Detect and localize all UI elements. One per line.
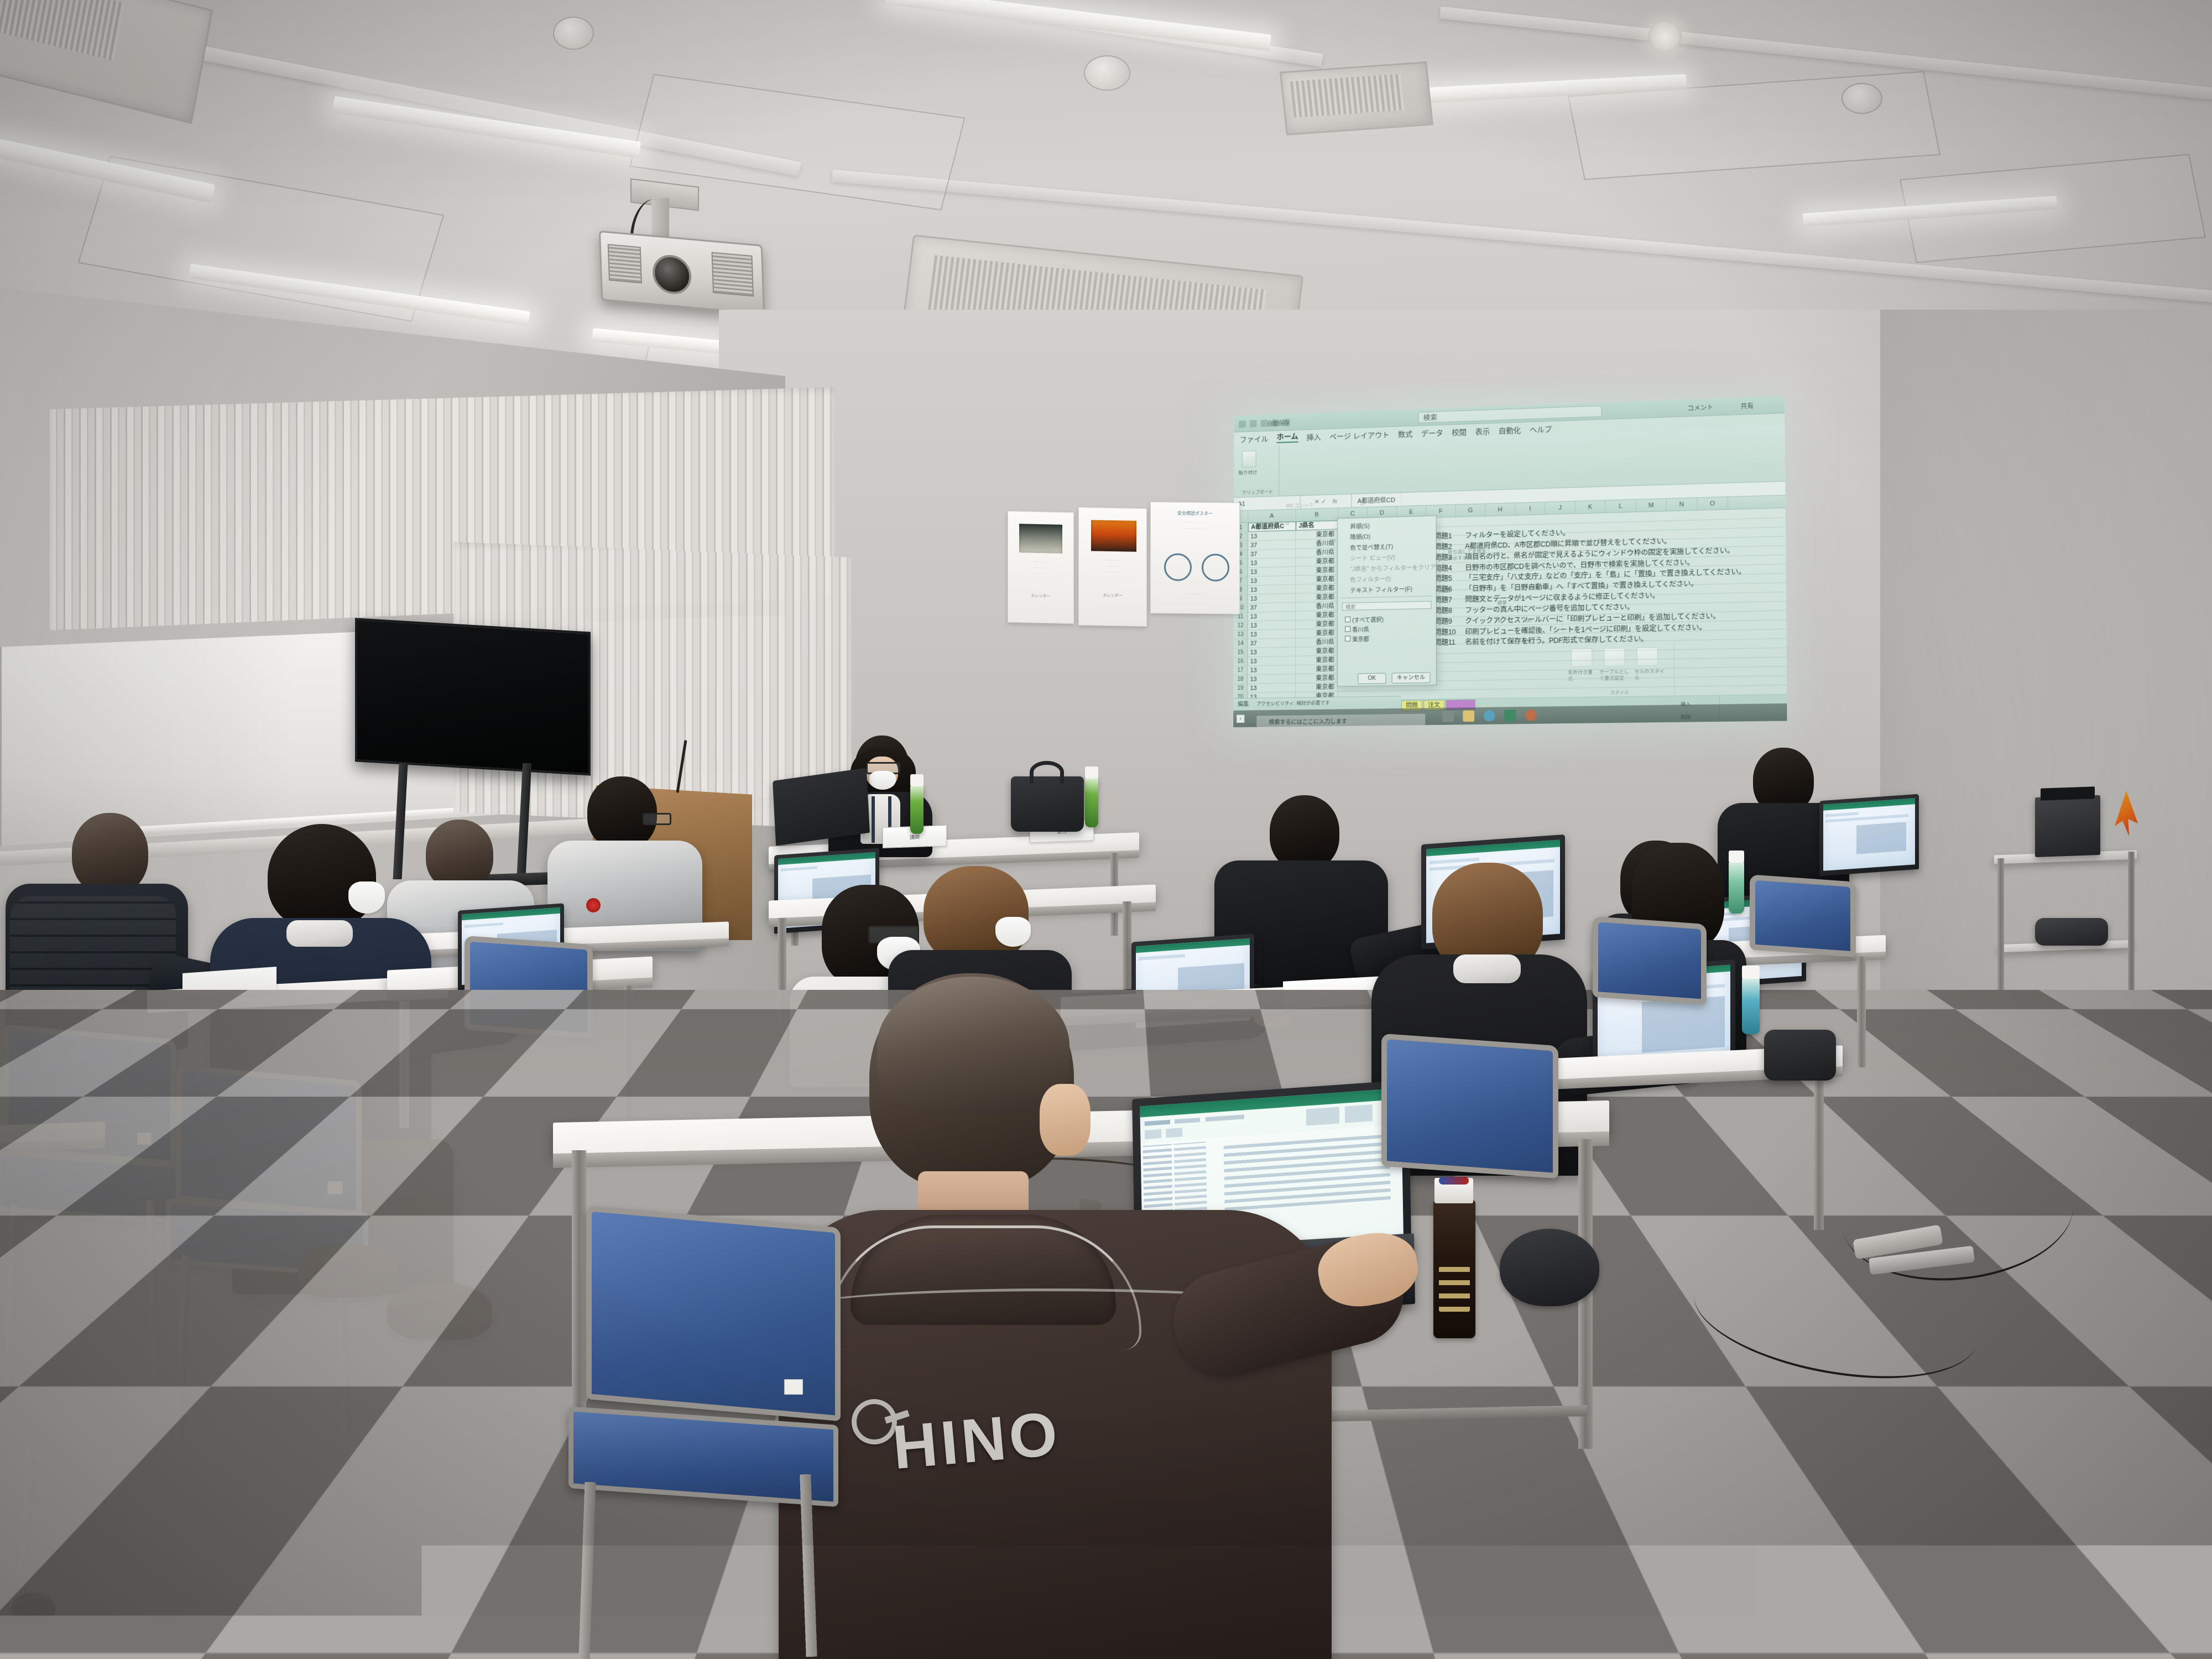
bottle-cap: [1742, 966, 1760, 979]
tab-view[interactable]: 表示: [1475, 425, 1490, 436]
name-box[interactable]: A1: [1234, 496, 1300, 511]
file-explorer-icon[interactable]: [1463, 710, 1474, 722]
filter-search-input[interactable]: 検索: [1342, 601, 1431, 611]
ribbon-group-clipboard[interactable]: 貼り付け クリップボード: [1237, 444, 1280, 497]
wall-monitor[interactable]: [355, 618, 591, 775]
col-M[interactable]: M: [1636, 499, 1667, 512]
bottle-cap-sticker: [1439, 1177, 1469, 1185]
ceiling-ac-unit: [1280, 61, 1433, 135]
hino-brand-text: HINO: [890, 1397, 1063, 1483]
cell-A1[interactable]: A都道府県C: [1248, 521, 1296, 531]
col-L[interactable]: L: [1606, 500, 1636, 513]
col-N[interactable]: N: [1667, 498, 1698, 510]
wall-calendar-1: · · · · · ·· · · · · ·· · · · · · カレンダー: [1008, 511, 1074, 624]
side-cart-printer[interactable]: [2035, 795, 2100, 857]
black-mouse[interactable]: [1500, 1229, 1599, 1306]
chair-back[interactable]: [465, 936, 593, 1039]
tea-bottle: [910, 784, 924, 834]
group-label-clipboard: クリップボード: [1237, 489, 1279, 496]
tab-insert[interactable]: 挿入: [1306, 431, 1321, 442]
excel-share-button[interactable]: 共有: [1740, 401, 1754, 410]
poster-badge-icon: [1202, 554, 1229, 582]
projected-excel-window[interactable]: 検索 コメント 共有 自動保存 ファイル ホーム 挿入 ページ レイアウト 数式…: [1233, 396, 1787, 727]
app-icon[interactable]: [1525, 709, 1537, 721]
excel-comment-button[interactable]: コメント: [1687, 403, 1713, 413]
desk-leg: [624, 985, 634, 1118]
bottle-cap: [1085, 766, 1098, 779]
tea-bottle: [1742, 977, 1760, 1034]
puffer-quilting: [10, 896, 176, 1034]
tab-file[interactable]: ファイル: [1240, 433, 1269, 445]
filter-cancel-button[interactable]: キャンセル: [1392, 672, 1431, 684]
formula-input[interactable]: A都道府県CD: [1352, 495, 1395, 505]
status-accessibility: アクセシビリティ: 検討が必要です: [1256, 699, 1329, 707]
bottle-cap: [1729, 851, 1744, 863]
chair-caster: [11, 1593, 55, 1626]
desk-leg: [1857, 957, 1866, 1067]
student-head: [1270, 795, 1339, 870]
cart-shelf-device: [2035, 918, 2108, 946]
backpack: [1011, 776, 1084, 832]
shoe: [387, 1283, 492, 1339]
chair-tag: [784, 1379, 803, 1395]
wall-calendar-2: · · · · · ·· · · · · ·· · · · · · カレンダー: [1078, 507, 1147, 627]
coffee-bottle: [1433, 1200, 1475, 1338]
face-mask: [995, 917, 1031, 947]
smoke-detector: [553, 17, 594, 50]
paste-label[interactable]: 貼り付け: [1239, 469, 1258, 476]
coffee-bottle-label: [1439, 1266, 1470, 1312]
tab-help[interactable]: ヘルプ: [1530, 423, 1552, 435]
student-laptop[interactable]: [1819, 794, 1919, 877]
tab-formulas[interactable]: 数式: [1398, 428, 1413, 439]
start-icon[interactable]: [1237, 715, 1244, 723]
face-mask: [348, 881, 385, 914]
excel-status-bar: 編集 アクセシビリティ: 検討が必要です: [1233, 696, 1401, 708]
excel-taskbar-icon[interactable]: [1504, 709, 1516, 721]
taskview-icon[interactable]: [1442, 711, 1454, 722]
smoke-detector: [1084, 55, 1130, 91]
filter-text-filters[interactable]: テキスト フィルター(F): [1338, 583, 1436, 596]
col-B[interactable]: B: [1296, 508, 1338, 521]
filter-ok-button[interactable]: OK: [1358, 673, 1386, 684]
hino-logo-badge: [586, 898, 601, 912]
tab-automate[interactable]: 自動化: [1499, 424, 1521, 436]
instructor-lanyard: [872, 796, 875, 843]
exercise-text-block: 問題1フィルターを設定してください。 問題2A都道府県CD、A市区郡CD順に昇順…: [1434, 522, 1785, 649]
downlight: [1648, 22, 1682, 51]
taskbar-search-input[interactable]: 検索するにはここに入力します: [1256, 714, 1425, 727]
instructor-face-mask: [869, 771, 896, 790]
status-mode: 編集: [1238, 699, 1249, 707]
tab-data[interactable]: データ: [1421, 427, 1443, 439]
student-head: [426, 820, 493, 890]
chair-back[interactable]: [1593, 916, 1707, 1005]
tab-review[interactable]: 校閲: [1452, 426, 1467, 437]
student-head: [924, 866, 1029, 963]
chair-tag: [327, 1181, 343, 1194]
front-student-ear: [1040, 1084, 1091, 1156]
formula-icons: ✕ ✓ fx: [1301, 494, 1352, 509]
col-H[interactable]: H: [1485, 503, 1515, 516]
tab-home[interactable]: ホーム: [1277, 430, 1298, 443]
col-A[interactable]: A: [1248, 509, 1296, 523]
tea-bottle: [1729, 860, 1744, 914]
col-J[interactable]: J: [1545, 502, 1575, 514]
student-head: [72, 813, 148, 895]
chair-tag: [137, 1133, 152, 1145]
desk-leg: [778, 918, 786, 1029]
backpack-handle: [1030, 761, 1064, 784]
projector-lens: [652, 253, 692, 295]
front-student-hair: [877, 977, 1070, 1115]
autofilter-dropdown[interactable]: 昇順(S) 降順(O) 色で並べ替え(T) シート ビュー(V) "J県名" か…: [1337, 515, 1437, 686]
desk-leg: [399, 1001, 409, 1128]
instructor-laptop[interactable]: [773, 768, 870, 846]
desk-leg: [1814, 1075, 1824, 1230]
tea-bottle: [1085, 776, 1098, 827]
cell-B1[interactable]: J県名: [1296, 520, 1338, 530]
jacket-piping: [827, 1225, 1141, 1350]
handbag: [1764, 1030, 1836, 1081]
bottle-cap: [910, 774, 924, 786]
student-head: [268, 824, 376, 929]
col-I[interactable]: I: [1515, 502, 1545, 515]
col-K[interactable]: K: [1575, 500, 1606, 513]
safety-poster: 安全標語ポスター · · · · · · · · · ·· · · · · · …: [1150, 502, 1240, 614]
smoke-detector: [1841, 83, 1882, 114]
student-glasses: [643, 813, 671, 825]
excel-autosave-toggle[interactable]: 自動保存: [1267, 418, 1290, 427]
shirt-collar: [286, 920, 353, 947]
filter-checkbox-tokyo[interactable]: 東京都: [1341, 633, 1435, 644]
col-G[interactable]: G: [1456, 504, 1486, 517]
shirt-collar: [1453, 954, 1521, 983]
chair-back[interactable]: [1750, 874, 1856, 957]
handout-paper: [1283, 976, 1383, 1009]
poster-badge-icon: [1164, 553, 1192, 581]
chair-back[interactable]: [1381, 1034, 1558, 1178]
shoe: [299, 1244, 398, 1297]
col-O[interactable]: O: [1697, 497, 1728, 510]
edge-icon[interactable]: [1484, 710, 1495, 722]
ceiling-projector: [599, 231, 765, 315]
classroom-photo: 検索 コメント 共有 自動保存 ファイル ホーム 挿入 ページ レイアウト 数式…: [0, 0, 2212, 1659]
